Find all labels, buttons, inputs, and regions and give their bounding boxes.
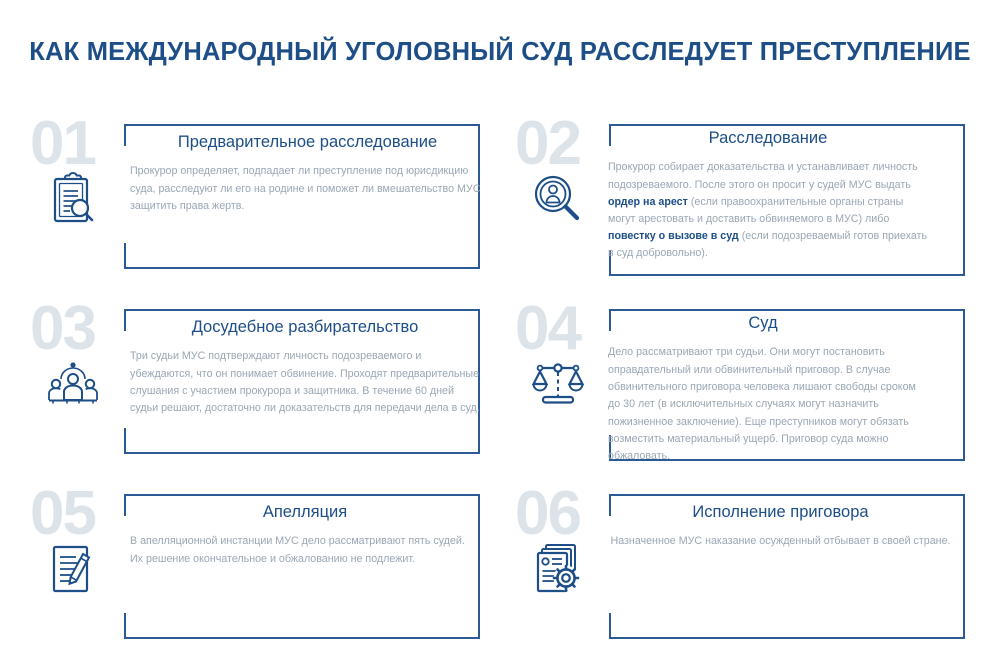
documents-gear-icon [527,538,589,600]
scales-of-justice-icon [527,353,589,415]
step-number-03: 03 [30,298,95,360]
step-description-05: В апелляционной инстанции МУС дело рассм… [130,533,480,568]
step-description-03: Три судьи МУС подтверждают личность подо… [130,348,480,417]
step-title-03: Досудебное разбирательство [130,317,480,338]
step-body-01: Предварительное расследование Прокурор о… [130,132,485,215]
step-number-04: 04 [515,298,580,360]
steps-grid: 01 [0,110,1000,655]
document-pen-icon [42,538,104,600]
step-number-02: 02 [515,113,580,175]
step-body-04: Суд Дело рассматривают три судьи. Они мо… [608,313,918,466]
step-title-05: Апелляция [130,502,480,523]
step-description-06: Назначенное МУС наказание осужденный отб… [608,533,953,550]
step-title-02: Расследование [608,128,928,149]
step-description-01: Прокурор определяет, подпадает ли престу… [130,163,485,215]
step-description-04: Дело рассматривают три судьи. Они могут … [608,344,918,465]
three-people-icon [42,353,104,415]
step-body-05: Апелляция В апелляционной инстанции МУС … [130,502,480,568]
magnifier-person-icon [527,168,589,230]
step-body-02: Расследование Прокурор собирает доказате… [608,128,928,262]
step-card-02[interactable]: 02 Расследование Прокурор собирает доказ… [515,110,965,278]
step-title-01: Предварительное расследование [130,132,485,153]
step-title-04: Суд [608,313,918,334]
steps-row-1: 01 [0,110,1000,295]
step-card-03[interactable]: 03 [30,295,480,455]
steps-row-3: 05 [0,480,1000,655]
step-description-02: Прокурор собирает доказательства и устан… [608,159,928,262]
step-card-04[interactable]: 04 Суд [515,295,965,463]
page-title: КАК МЕЖДУНАРОДНЫЙ УГОЛОВНЫЙ СУД РАССЛЕДУ… [0,38,1000,67]
clipboard-magnifier-icon [42,168,104,230]
step-card-06[interactable]: 06 [515,480,965,640]
step-body-06: Исполнение приговора Назначенное МУС нак… [608,502,953,551]
step-number-06: 06 [515,483,580,545]
step-title-06: Исполнение приговора [608,502,953,523]
steps-row-2: 03 [0,295,1000,480]
step-card-05[interactable]: 05 [30,480,480,640]
step-number-05: 05 [30,483,95,545]
step-number-01: 01 [30,113,95,175]
step-card-01[interactable]: 01 [30,110,480,270]
step-body-03: Досудебное разбирательство Три судьи МУС… [130,317,480,418]
